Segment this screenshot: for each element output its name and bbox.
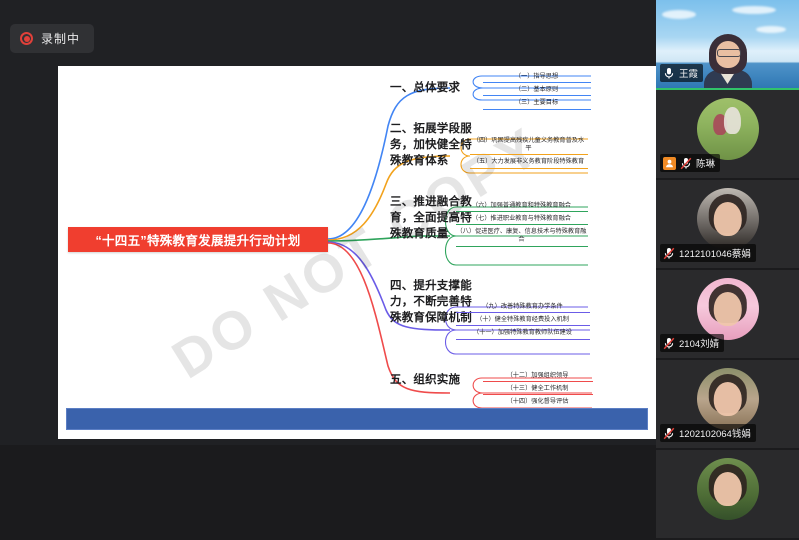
- avatar: [697, 98, 759, 160]
- participant-tile[interactable]: 王霞: [656, 0, 799, 90]
- shared-screen-stage[interactable]: DO NOT COPY “十四五”特殊教育发展提升行动计划 一、总体要求 二、拓…: [58, 66, 656, 439]
- participant-name-bar: 1202102064钱娟: [660, 424, 756, 442]
- mic-on-icon: [663, 67, 675, 80]
- participant-name: 2104刘婧: [679, 336, 719, 350]
- mic-muted-icon: [663, 337, 675, 350]
- meeting-window: 录制中: [0, 0, 799, 445]
- mindmap-branch-title-2: 二、拓展学段服务，加快健全特殊教育体系: [390, 121, 472, 169]
- mindmap-leaf: （十三）健全工作机制: [483, 382, 593, 395]
- mindmap-leaf: （十四）强化督导评估: [483, 395, 593, 408]
- recording-indicator: 录制中: [10, 24, 94, 53]
- slide-footer-band: [66, 408, 648, 430]
- avatar: [697, 278, 759, 340]
- mic-muted-icon: [663, 427, 675, 440]
- mindmap-leaf: （二）基本原则: [483, 83, 591, 96]
- mindmap-leaf: （四）巩固提高残疾儿童义务教育普及水平: [470, 134, 588, 155]
- participant-video-person: [702, 32, 754, 88]
- participant-name-bar: 1212101046蔡娟: [660, 244, 756, 262]
- mindmap-leaf: （十一）加强特殊教育教师队伍建设: [456, 326, 590, 339]
- participant-tile[interactable]: 2104刘婧: [656, 270, 799, 360]
- participant-name: 王霞: [679, 66, 698, 80]
- participant-name-bar: 2104刘婧: [660, 334, 724, 352]
- participant-tile[interactable]: [656, 450, 799, 540]
- participant-name: 陈琳: [696, 156, 715, 170]
- mindmap-leaf: （十）健全特殊教育经费投入机制: [456, 313, 590, 326]
- mindmap-leaf: （一）指导思想: [483, 70, 591, 83]
- mindmap-leaf: （七）推进职业教育与特殊教育融合: [456, 212, 588, 225]
- host-badge-icon: [663, 157, 676, 170]
- mindmap-leaf-group-5: （十二）加强组织领导 （十三）健全工作机制 （十四）强化督导评估: [483, 369, 593, 409]
- record-dot-icon: [20, 32, 33, 45]
- participant-tile[interactable]: 1212101046蔡娟: [656, 180, 799, 270]
- mindmap-leaf: （八）促进医疗、康复、信息技术与特殊教育融合: [456, 225, 588, 246]
- mindmap-leaf-group-2: （四）巩固提高残疾儿童义务教育普及水平 （五）大力发展非义务教育阶段特殊教育: [470, 134, 588, 169]
- participant-name-bar: 陈琳: [660, 154, 720, 172]
- mindmap-leaf: （九）改善特殊教育办学条件: [456, 300, 590, 313]
- mindmap-leaf: （三）主要目标: [483, 96, 591, 109]
- participant-strip[interactable]: 王霞: [656, 0, 799, 445]
- participant-tile[interactable]: 1202102064钱娟: [656, 360, 799, 450]
- participant-tile[interactable]: 陈琳: [656, 90, 799, 180]
- avatar: [697, 188, 759, 250]
- participant-name-bar: 王霞: [660, 64, 703, 82]
- mindmap-leaf-group-1: （一）指导思想 （二）基本原则 （三）主要目标: [483, 70, 591, 110]
- mindmap-leaf-group-3: （六）加强普通教育和特殊教育融合 （七）推进职业教育与特殊教育融合 （八）促进医…: [456, 199, 588, 247]
- mic-muted-icon: [680, 157, 692, 170]
- mindmap-leaf-group-4: （九）改善特殊教育办学条件 （十）健全特殊教育经费投入机制 （十一）加强特殊教育…: [456, 300, 590, 340]
- mic-muted-icon: [663, 247, 675, 260]
- avatar: [697, 458, 759, 520]
- recording-label: 录制中: [41, 30, 80, 47]
- mindmap-central-node: “十四五”特殊教育发展提升行动计划: [68, 227, 328, 252]
- participant-name: 1202102064钱娟: [679, 426, 751, 440]
- mindmap-leaf: （五）大力发展非义务教育阶段特殊教育: [470, 155, 588, 168]
- mindmap-branch-title-1: 一、总体要求: [390, 80, 472, 96]
- participant-name: 1212101046蔡娟: [679, 246, 751, 260]
- presentation-slide: DO NOT COPY “十四五”特殊教育发展提升行动计划 一、总体要求 二、拓…: [58, 66, 656, 439]
- mindmap-leaf: （六）加强普通教育和特殊教育融合: [456, 199, 588, 212]
- avatar: [697, 368, 759, 430]
- mindmap-leaf: （十二）加强组织领导: [483, 369, 593, 382]
